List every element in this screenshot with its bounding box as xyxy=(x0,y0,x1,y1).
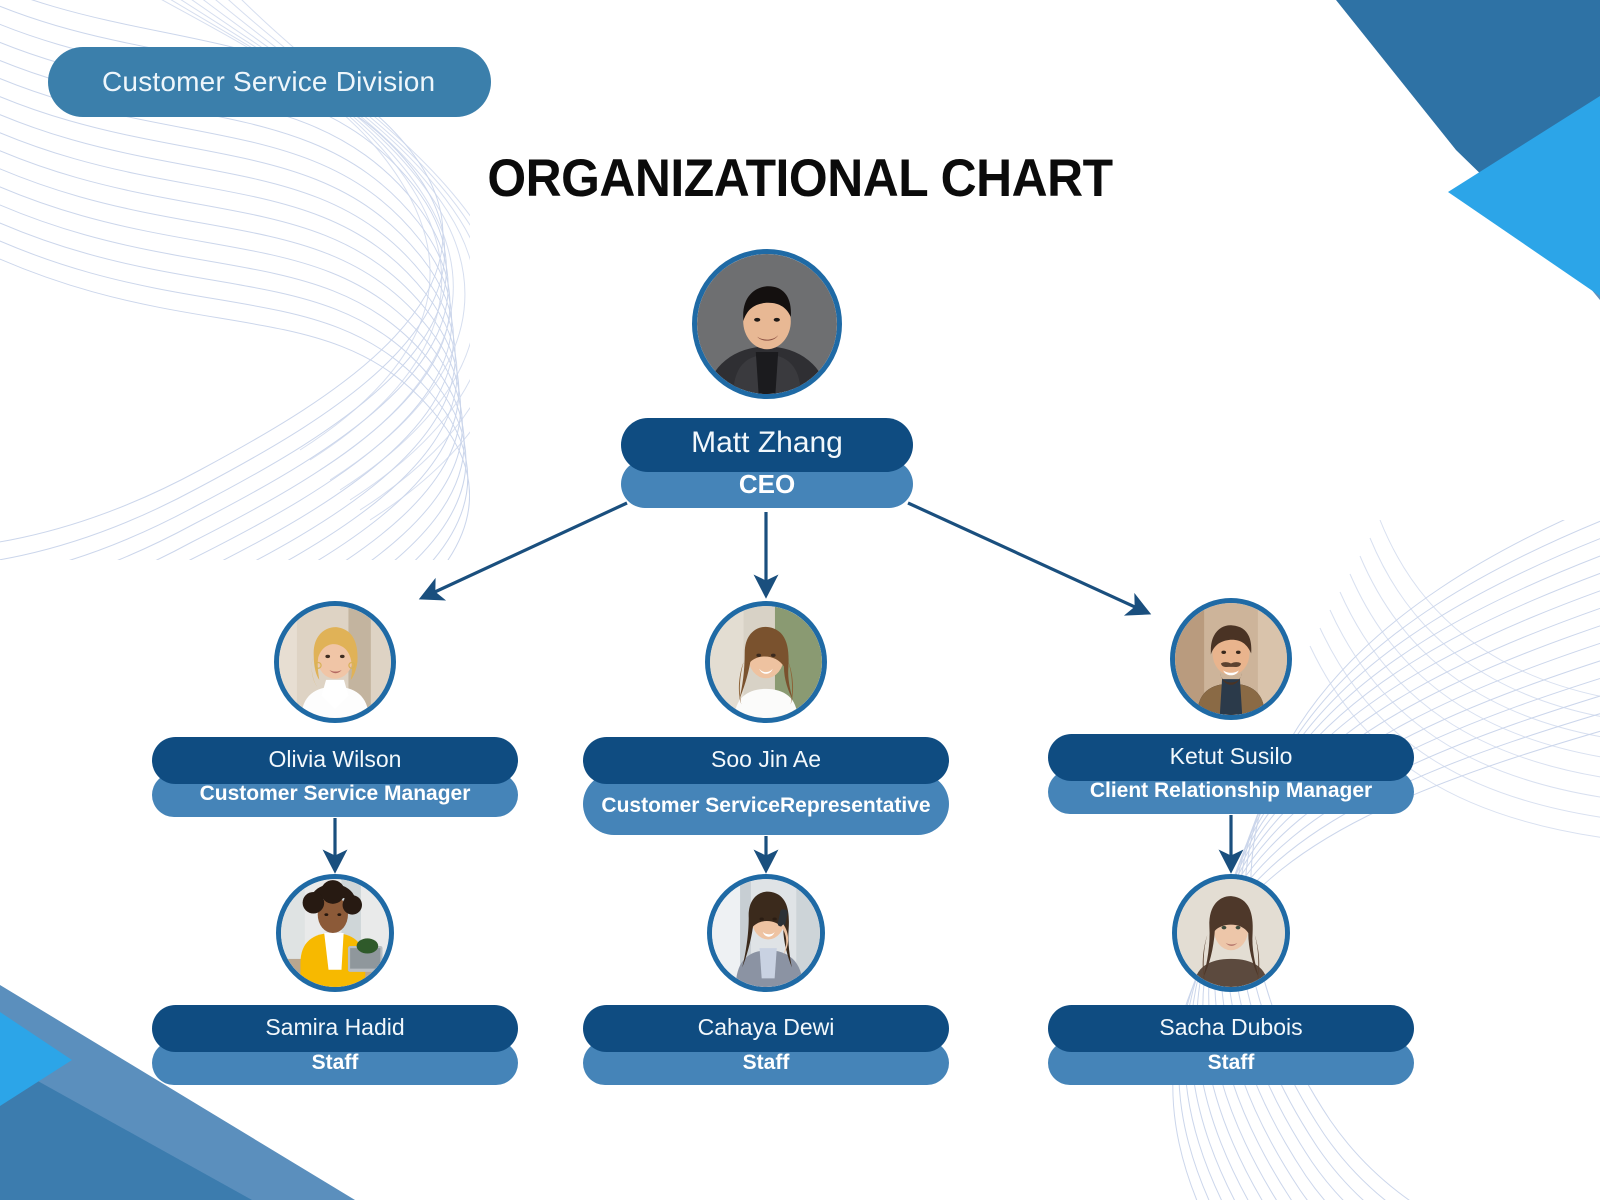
node-name-ketut-susilo: Ketut Susilo xyxy=(1048,734,1414,781)
division-badge-label: Customer Service Division xyxy=(102,68,435,96)
avatar-cahaya-dewi xyxy=(707,874,825,992)
avatar-ketut-susilo xyxy=(1170,598,1292,720)
edge-ceo-olivia xyxy=(424,503,627,597)
org-node-ceo[interactable]: Matt Zhang CEO xyxy=(621,249,913,508)
portrait-photo-icon xyxy=(697,254,837,394)
node-name-soo-jin-ae: Soo Jin Ae xyxy=(583,737,949,784)
avatar-soo-jin-ae xyxy=(705,601,827,723)
org-node-soo-jin-ae[interactable]: Soo Jin Ae Customer Service Representati… xyxy=(583,601,949,835)
org-node-sacha-dubois[interactable]: Sacha Dubois Staff xyxy=(1048,874,1414,1085)
org-node-cahaya-dewi[interactable]: Cahaya Dewi Staff xyxy=(583,874,949,1085)
node-role-line1: Customer Service xyxy=(601,794,780,818)
node-name-samira-hadid: Samira Hadid xyxy=(152,1005,518,1052)
portrait-photo-icon xyxy=(279,606,391,718)
node-name-sacha-dubois: Sacha Dubois xyxy=(1048,1005,1414,1052)
node-name-ceo: Matt Zhang xyxy=(621,418,913,472)
node-name-olivia-wilson: Olivia Wilson xyxy=(152,737,518,784)
avatar-samira-hadid xyxy=(276,874,394,992)
node-name-cahaya-dewi: Cahaya Dewi xyxy=(583,1005,949,1052)
node-role-line2: Representative xyxy=(780,794,931,818)
portrait-photo-icon xyxy=(710,606,822,718)
org-chart-canvas: Customer Service Division ORGANIZATIONAL… xyxy=(0,0,1600,1200)
org-node-samira-hadid[interactable]: Samira Hadid Staff xyxy=(152,874,518,1085)
org-node-ketut-susilo[interactable]: Ketut Susilo Client Relationship Manager xyxy=(1048,598,1414,814)
avatar-sacha-dubois xyxy=(1172,874,1290,992)
org-node-olivia-wilson[interactable]: Olivia Wilson Customer Service Manager xyxy=(152,601,518,817)
portrait-photo-icon xyxy=(1175,603,1287,715)
portrait-photo-icon xyxy=(1177,879,1285,987)
edge-ceo-ketut xyxy=(908,503,1146,612)
avatar-olivia-wilson xyxy=(274,601,396,723)
avatar-matt-zhang xyxy=(692,249,842,399)
portrait-photo-icon xyxy=(281,879,389,987)
portrait-photo-icon xyxy=(712,879,820,987)
division-badge: Customer Service Division xyxy=(48,47,491,117)
page-title: ORGANIZATIONAL CHART xyxy=(48,152,1552,205)
